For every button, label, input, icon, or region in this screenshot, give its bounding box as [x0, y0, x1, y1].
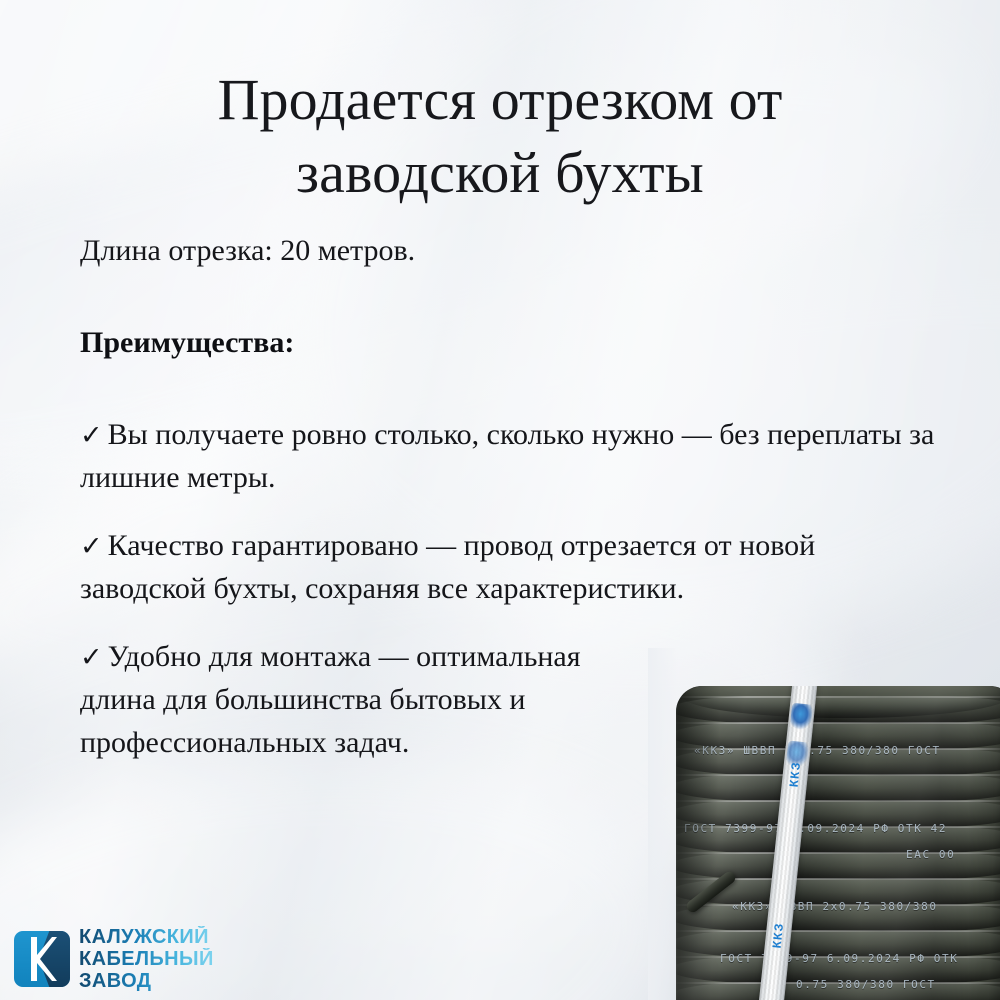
list-item-label: Вы получаете ровно столько, сколько нужн… [80, 418, 934, 494]
list-item-label: Удобно для монтажа — оптимальная длина д… [80, 640, 581, 758]
page-title: Продается отрезком от заводской бухты [0, 63, 1000, 209]
poster-canvas: «ККЗ» ШВВП 2х0.75 380/380 ГОСТ ГОСТ 7399… [0, 0, 1000, 1000]
logo-line-3: ЗАВОД [79, 970, 214, 992]
list-item: ✓Удобно для монтажа — оптимальная длина … [80, 636, 600, 764]
benefits-list: ✓Вы получаете ровно столько, сколько нуж… [80, 414, 938, 790]
logo-line-2: КАБЕЛЬНЫЙ [79, 948, 214, 970]
list-item-label: Качество гарантировано — провод отрезает… [80, 529, 815, 605]
benefits-heading: Преимущества: [80, 324, 294, 362]
logo-k-mark-icon [14, 931, 70, 987]
check-icon: ✓ [80, 642, 103, 672]
list-item: ✓Вы получаете ровно столько, сколько нуж… [80, 414, 940, 499]
company-logo[interactable]: КАЛУЖСКИЙ КАБЕЛЬНЫЙ ЗАВОД [14, 926, 214, 992]
check-icon: ✓ [80, 531, 103, 561]
poster-content: Продается отрезком от заводской бухты Дл… [0, 0, 1000, 1000]
logo-chevron-icon [27, 937, 57, 981]
title-line-1: Продается отрезком от [70, 63, 930, 136]
logo-line-1: КАЛУЖСКИЙ [79, 926, 214, 948]
title-line-2: заводской бухты [70, 136, 930, 209]
list-item: ✓Качество гарантировано — провод отрезае… [80, 525, 940, 610]
logo-wordmark: КАЛУЖСКИЙ КАБЕЛЬНЫЙ ЗАВОД [79, 926, 214, 992]
check-icon: ✓ [80, 420, 103, 450]
cut-length-text: Длина отрезка: 20 метров. [80, 232, 415, 270]
